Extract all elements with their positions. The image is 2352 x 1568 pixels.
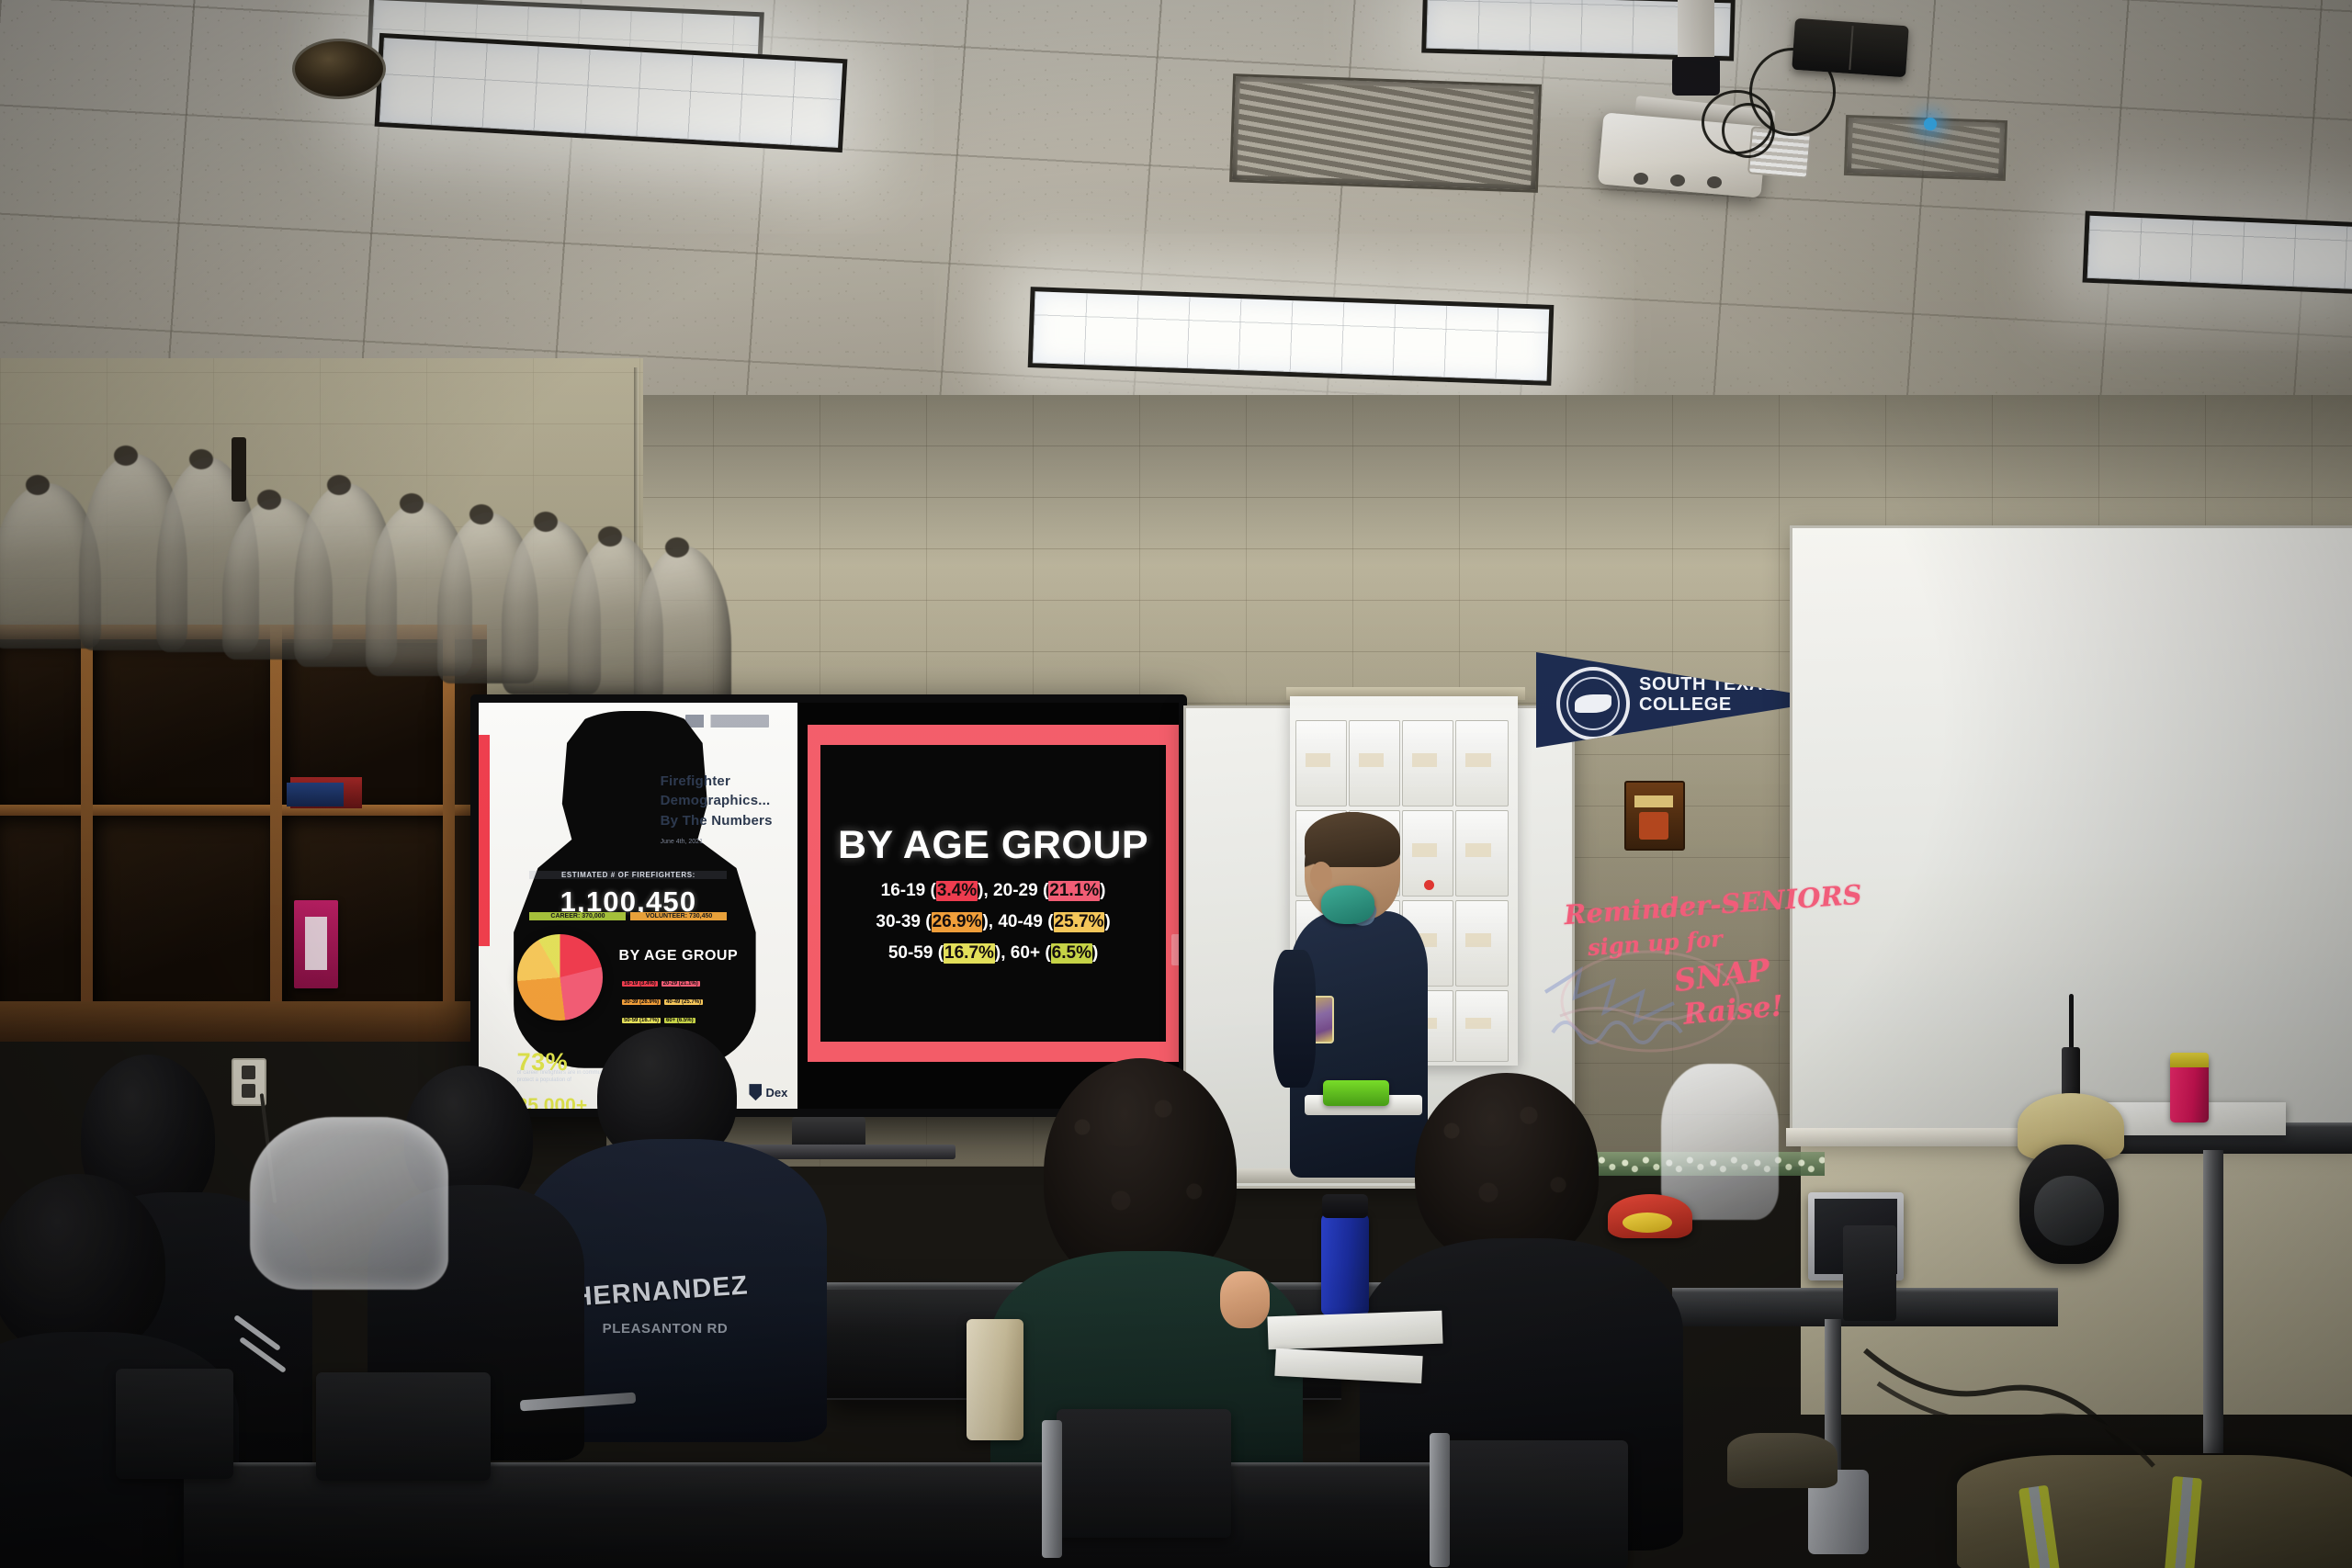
gear-pile (1727, 1433, 1837, 1488)
energy-drink-can (2170, 1055, 2209, 1122)
storage-cabinet (0, 625, 487, 1010)
student-head (0, 1174, 165, 1358)
age-group-pie-chart (517, 934, 604, 1021)
cubby-shelf (0, 639, 81, 805)
student-hand (1220, 1271, 1270, 1328)
bottle-cap (1322, 1194, 1368, 1218)
projector-mount-collar (1672, 57, 1720, 96)
scba-face-mask (2019, 1145, 2119, 1264)
pie-legend-entry: 30-39 (26.9%) (622, 999, 661, 1005)
age-percent-highlight: 3.4% (936, 881, 978, 901)
mask-lens (2034, 1176, 2104, 1246)
pink-binder (294, 900, 338, 988)
chair-back (1444, 1440, 1628, 1568)
chair-back (1057, 1409, 1231, 1538)
pennant-text: SOUTH TEXAS COLLEGE (1639, 674, 1776, 716)
panel-tab (1171, 934, 1179, 965)
ceiling-speaker (292, 39, 386, 99)
wifi-access-point (1792, 18, 1909, 78)
projector-cable (1722, 103, 1775, 158)
college-seal-icon (1556, 667, 1630, 740)
face-mask (1321, 886, 1374, 924)
classroom-photo: Firefighter Demographics... By The Numbe… (0, 0, 2352, 1568)
pie-legend-entry: 60+ (6.5%) (664, 1018, 695, 1023)
plastic-bag (1661, 1064, 1779, 1220)
paper-towel-roll (967, 1319, 1023, 1440)
instructor-hair (1305, 812, 1400, 867)
toy-fire-helmet (1608, 1194, 1692, 1238)
age-percent-highlight: 25.7% (1054, 912, 1105, 932)
age-percent-highlight: 6.5% (1051, 943, 1092, 964)
pennant-line-1: SOUTH TEXAS (1639, 674, 1776, 694)
radio-antenna (2069, 994, 2074, 1053)
whiteboard-scribble (1540, 937, 1770, 1056)
pie-legend-entry: 16-19 (3.4%) (622, 981, 658, 987)
age-percent-highlight: 21.1% (1048, 881, 1100, 901)
display-stand (792, 1117, 865, 1148)
dex-logo-text: Dex (765, 1086, 787, 1100)
poster-pie-title: BY AGE GROUP (619, 948, 785, 964)
poster-red-accent-bar (479, 735, 490, 946)
cubby-shelf (0, 816, 81, 1010)
by-age-group-inner: BY AGE GROUP 16-19 (3.4%), 20-29 (21.1%)… (820, 745, 1166, 1042)
pie-legend-row: 30-39 (26.9%) 40-49 (25.7%) (622, 999, 781, 1005)
poster-25k: 25,000+ (517, 1095, 588, 1109)
cubby-shelf (93, 639, 270, 805)
poster-date: June 4th, 2021 (661, 839, 788, 845)
age-panel-line-2: 30-39 (26.9%), 40-49 (25.7%) (876, 912, 1110, 932)
projector-foot (1634, 173, 1648, 185)
instructor-ear (1310, 862, 1332, 891)
pie-legend-entry: 40-49 (25.7%) (664, 999, 703, 1005)
status-led-icon (1924, 118, 1937, 130)
plastic-bag (250, 1117, 448, 1290)
ceiling-air-vent (1229, 73, 1542, 193)
student-head (1415, 1073, 1599, 1266)
blue-water-bottle (1321, 1213, 1369, 1315)
pie-legend-row: 50-59 (16.7%) 60+ (6.5%) (622, 1018, 781, 1023)
red-marker-dot (1424, 880, 1434, 890)
age-percent-highlight: 16.7% (944, 943, 995, 964)
chair-back (116, 1369, 233, 1479)
pie-legend-row: 16-19 (3.4%) 20-29 (21.1%) (622, 981, 781, 987)
shield-icon (749, 1084, 762, 1100)
poster-title: Firefighter Demographics... By The Numbe… (661, 772, 788, 830)
chair-rail (1042, 1420, 1062, 1558)
paper-stack (1267, 1311, 1442, 1350)
floor-cables (1856, 1323, 2242, 1506)
green-device (1323, 1080, 1389, 1106)
pennant-line-2: COLLEGE (1639, 694, 1776, 715)
projector-foot (1707, 176, 1722, 188)
age-percent-highlight: 26.9% (932, 912, 983, 932)
tool-handle (232, 437, 246, 502)
flat-screen-display[interactable]: Firefighter Demographics... By The Numbe… (470, 694, 1187, 1117)
age-panel-line-3: 50-59 (16.7%), 60+ (6.5%) (888, 943, 1098, 964)
chair-back (316, 1372, 491, 1481)
ceiling-light-panel (2083, 211, 2352, 295)
jacket-sub-text: PLEASANTON RD (564, 1321, 766, 1337)
split-career: CAREER: 370,000 (529, 912, 626, 920)
poster-stat-label: ESTIMATED # OF FIREFIGHTERS: (529, 871, 727, 879)
slide-screen: Firefighter Demographics... By The Numbe… (479, 703, 1179, 1109)
speaker (1843, 1225, 1896, 1321)
age-panel-heading: BY AGE GROUP (838, 823, 1148, 868)
pie-legend-entry: 20-29 (21.1%) (661, 981, 700, 987)
by-age-group-panel: BY AGE GROUP 16-19 (3.4%), 20-29 (21.1%)… (808, 725, 1179, 1062)
helmet-shield (1623, 1213, 1672, 1233)
age-panel-line-1: 16-19 (3.4%), 20-29 (21.1%) (881, 881, 1106, 901)
can-top (2170, 1053, 2209, 1067)
wall-plaque (1624, 781, 1685, 851)
blue-storage-box (287, 783, 344, 807)
counter-top (0, 1001, 505, 1042)
south-texas-college-pennant: SOUTH TEXAS COLLEGE (1536, 652, 1812, 748)
split-volunteer: VOLUNTEER: 730,450 (630, 912, 727, 920)
bagged-turnout-gear-row (0, 432, 744, 643)
poster-career-volunteer-split: CAREER: 370,000 VOLUNTEER: 730,450 (529, 912, 727, 920)
dex-logo: Dex (749, 1084, 787, 1100)
projector-foot (1670, 175, 1685, 186)
instructor-arm (1273, 950, 1316, 1088)
chair-rail (1430, 1433, 1450, 1567)
cubby-shelf (93, 816, 270, 1010)
pie-legend-entry: 50-59 (16.7%) (622, 1018, 661, 1023)
poster-source-logo (685, 715, 768, 727)
